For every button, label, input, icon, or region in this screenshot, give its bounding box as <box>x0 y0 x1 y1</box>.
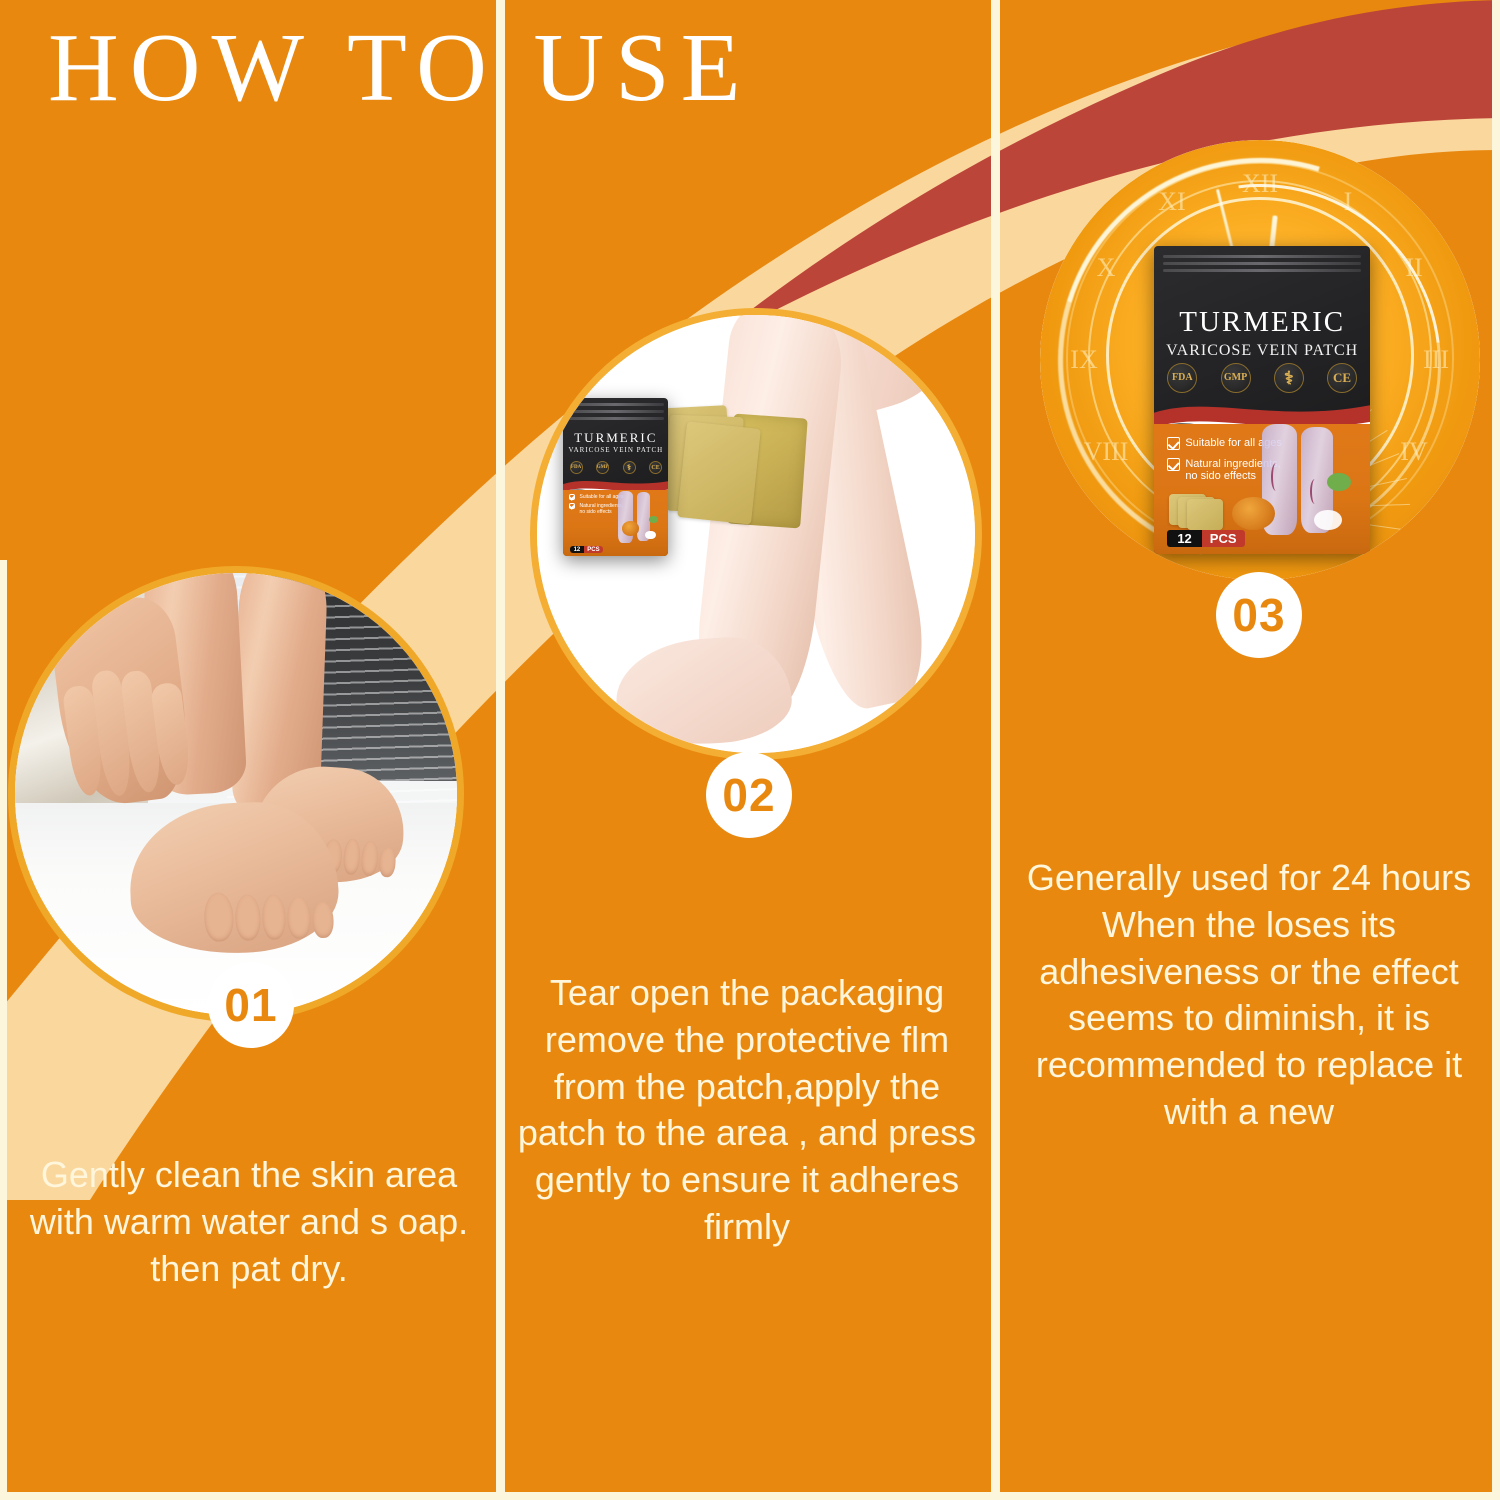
ce-badge: CE <box>649 461 662 474</box>
left-edge-border <box>0 560 7 1500</box>
caduceus-badge: ⚕ <box>1274 363 1304 393</box>
step-3-photo: XII I II III IV V VII VIII IX X XI TURME… <box>1040 140 1480 580</box>
step-2-photo: TURMERIC VARICOSE VEIN PATCH FDA GMP ⚕ C… <box>530 308 982 760</box>
right-edge-border <box>1492 0 1500 1500</box>
feature-check-icon <box>1167 437 1180 450</box>
gmp-badge: GMP <box>1221 363 1251 393</box>
fda-badge: FDA <box>570 461 583 474</box>
package-title: TURMERIC <box>574 430 657 445</box>
package-count-unit: PCS <box>1202 530 1245 547</box>
package-count: 12 <box>1167 530 1201 547</box>
package-subtitle: VARICOSE VEIN PATCH <box>563 447 668 455</box>
step-2-caption: Tear open the packaging remove the prote… <box>508 970 986 1251</box>
step-number-badge-3: 03 <box>1216 572 1302 658</box>
package-subtitle: VARICOSE VEIN PATCH <box>1154 342 1370 360</box>
step-number-badge-1: 01 <box>208 962 294 1048</box>
package-count-unit: PCS <box>584 546 602 553</box>
package-title: TURMERIC <box>1179 306 1345 338</box>
ce-badge: CE <box>1327 363 1357 393</box>
feature-1: Suitable for all ages <box>580 494 624 500</box>
product-package-large: TURMERIC VARICOSE VEIN PATCH FDA GMP ⚕ C… <box>1154 246 1370 554</box>
panel-divider-2 <box>991 0 1000 1500</box>
step-1-photo <box>8 566 464 1022</box>
package-count: 12 <box>570 546 585 553</box>
page-title: HOW TO USE <box>48 16 752 122</box>
gmp-badge: GMP <box>596 461 609 474</box>
step-3-caption: Generally used for 24 hours When the los… <box>1006 855 1492 1136</box>
product-package-small: TURMERIC VARICOSE VEIN PATCH FDA GMP ⚕ C… <box>563 398 668 556</box>
fda-badge: FDA <box>1167 363 1197 393</box>
feature-check-icon <box>569 494 575 500</box>
infographic-page: HOW TO USE <box>0 0 1500 1500</box>
step-number-badge-2: 02 <box>706 752 792 838</box>
feature-check-icon <box>569 503 575 509</box>
caduceus-badge: ⚕ <box>623 461 636 474</box>
step-1-caption: Gently clean the skin area with warm wat… <box>10 1152 488 1292</box>
bottom-edge-border <box>0 1492 1500 1500</box>
panel-divider-1 <box>496 0 505 1500</box>
feature-check-icon <box>1167 458 1180 471</box>
